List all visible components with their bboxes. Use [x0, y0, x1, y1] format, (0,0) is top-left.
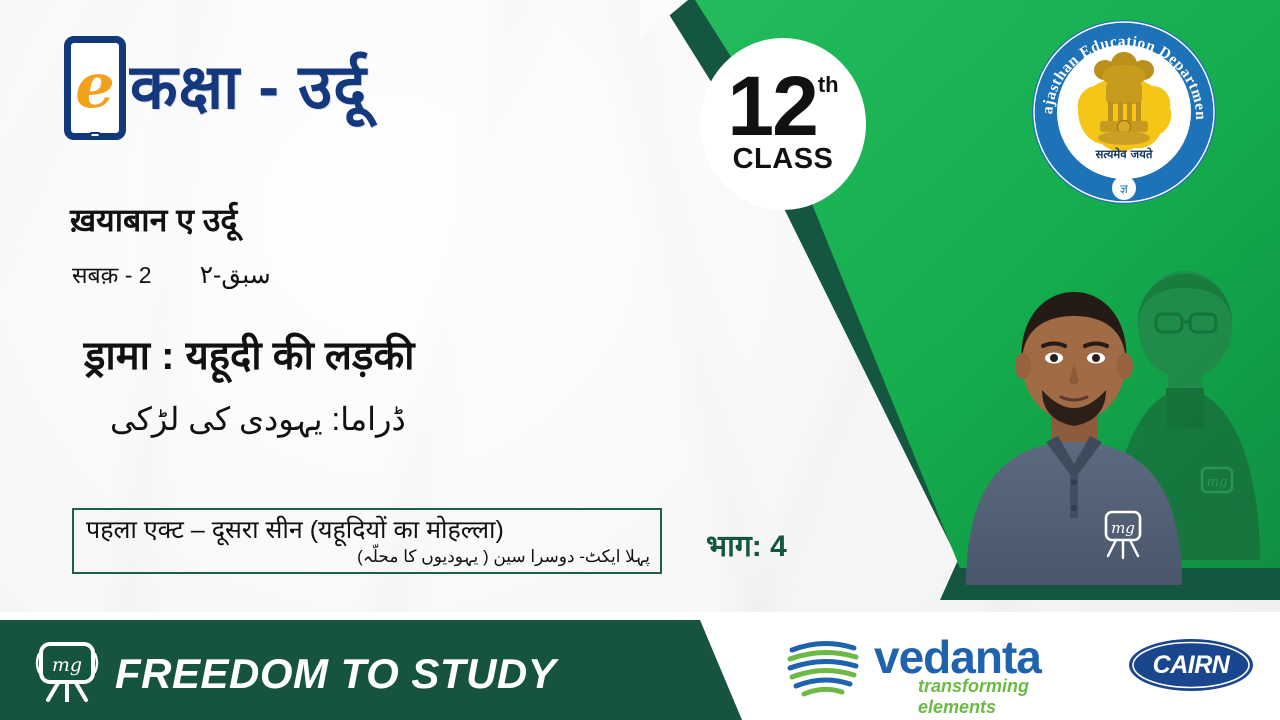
- freedom-to-study-banner: mg FREEDOM TO STUDY: [0, 620, 742, 720]
- freedom-to-study-label: FREEDOM TO STUDY: [115, 650, 556, 698]
- slide-canvas: 12 th CLASS Rajasthan Education Departme…: [0, 0, 1280, 720]
- phone-icon: e: [64, 36, 126, 140]
- rajasthan-education-department-emblem: Rajasthan Education Department: [1026, 14, 1222, 210]
- cairn-logo: CAIRN: [1128, 638, 1254, 692]
- drama-title-hindi: ड्रामा : यहूदी की लड़की: [84, 326, 415, 381]
- class-badge: 12 th CLASS: [700, 38, 866, 210]
- scene-hindi: पहला एक्ट – दूसरा सीन (यहूदियों का मोहल्…: [86, 516, 650, 545]
- mg-easel-icon: mg: [34, 638, 100, 702]
- class-word: CLASS: [733, 143, 834, 176]
- brand-letter-e: e: [75, 55, 114, 117]
- book-title: ख़याबान ए उर्दू: [70, 198, 237, 241]
- instructors-photo: mg: [930, 230, 1280, 585]
- drama-title-urdu: ڈراما: یہودی کی لڑکی: [110, 400, 406, 438]
- vedanta-tagline: transforming elements: [918, 676, 1108, 718]
- part-label: भाग: 4: [706, 524, 787, 565]
- svg-text:mg: mg: [1207, 475, 1228, 490]
- lesson-number-row: सबक़ - 2 سبق-۲: [72, 258, 271, 290]
- svg-text:mg: mg: [52, 654, 82, 676]
- cairn-wordmark: CAIRN: [1128, 638, 1254, 692]
- scene-urdu: پہلا ایکٹ- دوسرا سین ( یہودیوں کا محلّہ): [86, 546, 650, 568]
- scene-box: पहला एक्ट – दूसरा सीन (यहूदियों का मोहल्…: [72, 508, 662, 574]
- svg-text:mg: mg: [1111, 519, 1135, 537]
- class-ordinal: th: [818, 76, 839, 94]
- class-number: 12: [727, 72, 816, 141]
- vedanta-logo: vedanta transforming elements: [778, 628, 1108, 702]
- lesson-number-hindi: सबक़ - 2: [72, 258, 152, 290]
- emblem-bottom-glyph: ज्ञ: [1120, 182, 1128, 196]
- brand-logo-row: e कक्षा - उर्दू: [64, 36, 367, 140]
- brand-title: कक्षा - उर्दू: [130, 57, 367, 119]
- footer-bar: mg FREEDOM TO STUDY: [0, 612, 1280, 720]
- emblem-motto: सत्यमेव जयते: [1095, 147, 1153, 161]
- lesson-number-urdu: سبق-۲: [200, 260, 271, 290]
